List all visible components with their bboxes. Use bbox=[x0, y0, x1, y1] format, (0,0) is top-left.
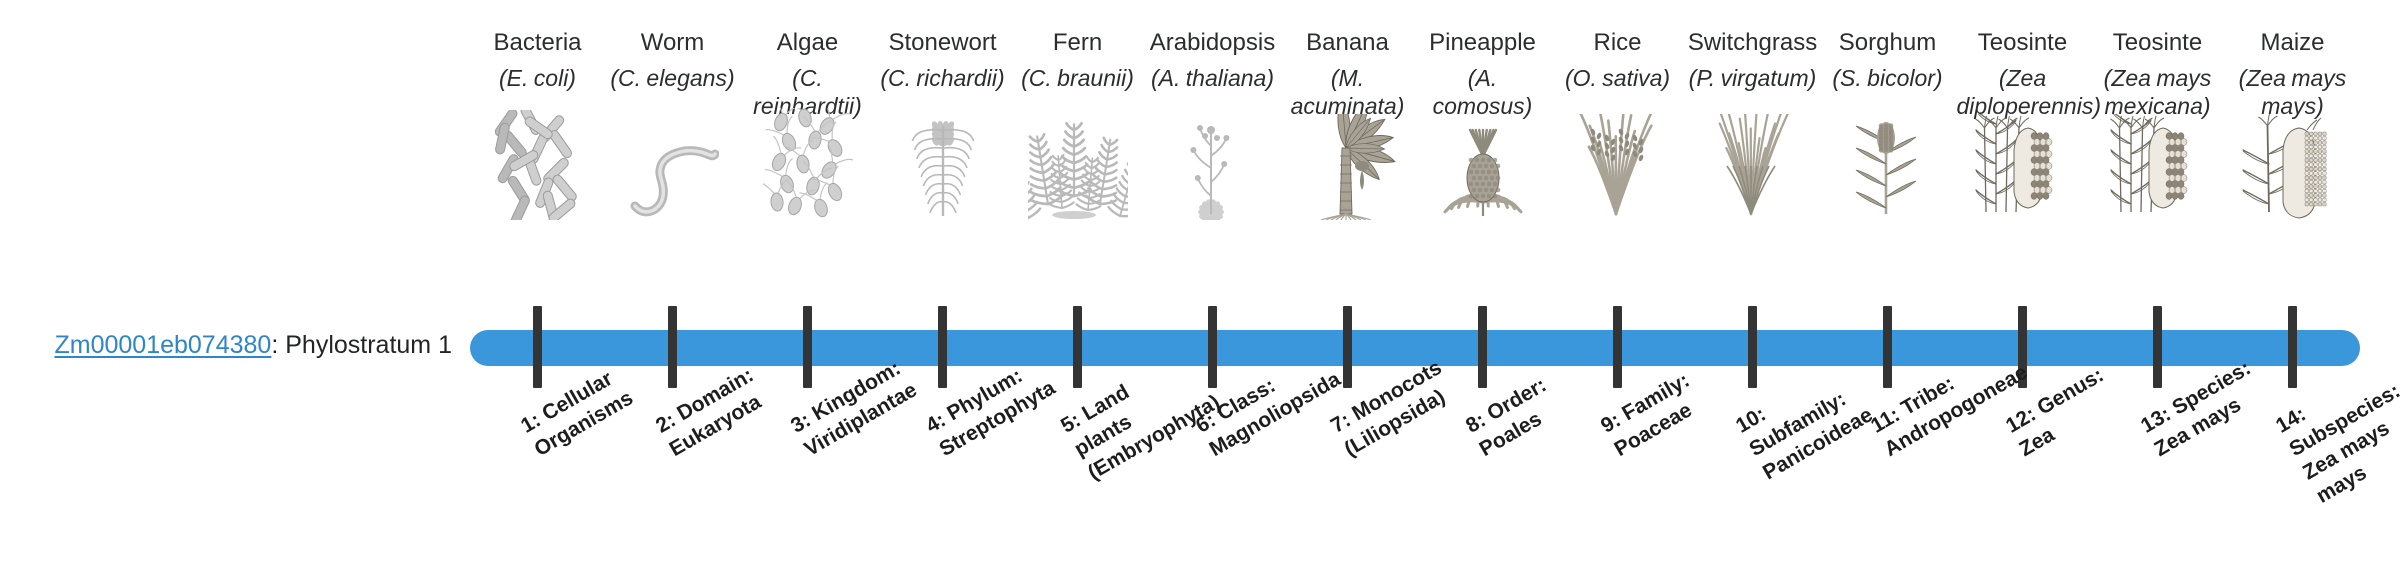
gene-row-label: Zm00001eb074380: Phylostratum 1 bbox=[0, 330, 452, 360]
pineapple-icon bbox=[1417, 120, 1549, 220]
species-column: Banana(M. acuminata) bbox=[1282, 28, 1414, 120]
phylostratum-number: 9: bbox=[1597, 408, 1625, 437]
species-common-name: Switchgrass bbox=[1687, 28, 1819, 58]
phylostratum-name: Monocots (Liliopsida) bbox=[1340, 356, 1448, 461]
phylostratum-number: 7: bbox=[1327, 408, 1355, 437]
nematode-worm-icon bbox=[607, 120, 739, 220]
species-column: Maize(Zea mays mays) bbox=[2227, 28, 2359, 120]
phylostratum-tick[interactable] bbox=[1343, 306, 1352, 388]
species-column: Sorghum(S. bicolor) bbox=[1822, 28, 1954, 92]
rice-plant-icon bbox=[1552, 120, 1684, 220]
phylostratum-tick[interactable] bbox=[1073, 306, 1082, 388]
banana-plant-icon bbox=[1282, 120, 1414, 220]
species-scientific-name: (C. braunii) bbox=[1012, 64, 1144, 92]
fern-icon bbox=[1012, 120, 1144, 220]
sorghum-icon bbox=[1822, 120, 1954, 220]
phylostratum-number: 8: bbox=[1462, 408, 1490, 437]
phylostratum-tick[interactable] bbox=[1613, 306, 1622, 388]
species-common-name: Rice bbox=[1552, 28, 1684, 58]
phylostratum-tick[interactable] bbox=[1478, 306, 1487, 388]
species-common-name: Worm bbox=[607, 28, 739, 58]
species-scientific-name: (M. acuminata) bbox=[1282, 64, 1414, 120]
species-column: Teosinte(Zea diploperennis) bbox=[1957, 28, 2089, 120]
phylostratum-tick[interactable] bbox=[803, 306, 812, 388]
phylostratum-tick[interactable] bbox=[1883, 306, 1892, 388]
phylostratum-number: 3: bbox=[787, 408, 815, 437]
phylostratum-name: Phylum: Streptophyta bbox=[935, 364, 1059, 461]
species-scientific-name: (C. elegans) bbox=[607, 64, 739, 92]
species-column: Pineapple(A. comosus) bbox=[1417, 28, 1549, 120]
phylostratum-tick[interactable] bbox=[2153, 306, 2162, 388]
species-scientific-name: (Zea mays mays) bbox=[2227, 64, 2359, 120]
species-scientific-name: (E. coli) bbox=[472, 64, 604, 92]
gene-phylostratum-text: Phylostratum 1 bbox=[285, 331, 452, 359]
phylostratum-name: Class: Magnoliopsida bbox=[1205, 368, 1344, 461]
species-common-name: Teosinte bbox=[2092, 28, 2224, 58]
gene-id-link[interactable]: Zm00001eb074380 bbox=[54, 331, 271, 359]
phylostratum-tick[interactable] bbox=[1208, 306, 1217, 388]
species-scientific-name: (O. sativa) bbox=[1552, 64, 1684, 92]
species-scientific-name: (C. richardii) bbox=[877, 64, 1009, 92]
species-scientific-name: (P. virgatum) bbox=[1687, 64, 1819, 92]
species-common-name: Bacteria bbox=[472, 28, 604, 58]
teosinte-plant-ear-icon bbox=[1957, 120, 2089, 220]
species-column: Stonewort(C. richardii) bbox=[877, 28, 1009, 92]
phylostratum-name: Kingdom: Viridiplantae bbox=[800, 356, 920, 461]
phylostratum-tick[interactable] bbox=[938, 306, 947, 388]
phylostratum-name: Subfamily: Panicoideae bbox=[1745, 387, 1876, 484]
species-scientific-name: (A. thaliana) bbox=[1147, 64, 1279, 92]
species-scientific-name: (Zea diploperennis) bbox=[1957, 64, 2089, 120]
phylostratum-number: 2: bbox=[652, 408, 680, 437]
species-column: Worm(C. elegans) bbox=[607, 28, 739, 92]
species-common-name: Fern bbox=[1012, 28, 1144, 58]
phylostratum-name: Family: Poaceae bbox=[1610, 369, 1695, 461]
species-column: Bacteria(E. coli) bbox=[472, 28, 604, 92]
phylostratum-tick[interactable] bbox=[1748, 306, 1757, 388]
species-scientific-name: (Zea mays mexicana) bbox=[2092, 64, 2224, 120]
species-common-name: Teosinte bbox=[1957, 28, 2089, 58]
phylostratum-name: Subspecies: Zea mays mays bbox=[2285, 379, 2400, 508]
species-column: Rice(O. sativa) bbox=[1552, 28, 1684, 92]
species-common-name: Maize bbox=[2227, 28, 2359, 58]
species-common-name: Stonewort bbox=[877, 28, 1009, 58]
species-column: Teosinte(Zea mays mexicana) bbox=[2092, 28, 2224, 120]
species-column: Arabidopsis(A. thaliana) bbox=[1147, 28, 1279, 92]
arabidopsis-icon bbox=[1147, 120, 1279, 220]
species-column: Fern(C. braunii) bbox=[1012, 28, 1144, 92]
phylostratum-tick[interactable] bbox=[2288, 306, 2297, 388]
phylostratum-number: 4: bbox=[922, 408, 950, 437]
species-column: Switchgrass(P. virgatum) bbox=[1687, 28, 1819, 92]
bacteria-rods-icon bbox=[472, 120, 604, 220]
switchgrass-icon bbox=[1687, 120, 1819, 220]
phylostratum-number: 6: bbox=[1192, 408, 1220, 437]
maize-plant-ear-icon bbox=[2227, 120, 2359, 220]
species-scientific-name: (A. comosus) bbox=[1417, 64, 1549, 120]
species-common-name: Pineapple bbox=[1417, 28, 1549, 58]
species-common-name: Arabidopsis bbox=[1147, 28, 1279, 58]
phylostratum-tick[interactable] bbox=[533, 306, 542, 388]
species-common-name: Sorghum bbox=[1822, 28, 1954, 58]
species-track: Bacteria(E. coli) Worm(C. elegans) bbox=[470, 28, 2360, 296]
phylostratum-number: 1: bbox=[517, 408, 545, 437]
stonewort-icon bbox=[877, 120, 1009, 220]
species-common-name: Algae bbox=[742, 28, 874, 58]
algae-cells-icon bbox=[742, 120, 874, 220]
species-column: Algae(C. reinhardtii) bbox=[742, 28, 874, 120]
species-common-name: Banana bbox=[1282, 28, 1414, 58]
species-scientific-name: (S. bicolor) bbox=[1822, 64, 1954, 92]
teosinte-plant-ear-icon bbox=[2092, 120, 2224, 220]
phylostratum-figure: Zm00001eb074380: Phylostratum 1 Bacteria… bbox=[0, 0, 2400, 580]
phylostratum-name: Domain: Eukaryota bbox=[665, 363, 764, 461]
strata-label-track: 1: Cellular Organisms2: Domain: Eukaryot… bbox=[470, 416, 2360, 580]
phylostratum-number: 5: bbox=[1057, 408, 1085, 437]
phylostratum-tick[interactable] bbox=[668, 306, 677, 388]
phylostratum-name: Species: Zea mays bbox=[2150, 356, 2254, 461]
gene-label-separator: : bbox=[271, 331, 285, 359]
phylostratum-name: Cellular Organisms bbox=[530, 367, 637, 461]
